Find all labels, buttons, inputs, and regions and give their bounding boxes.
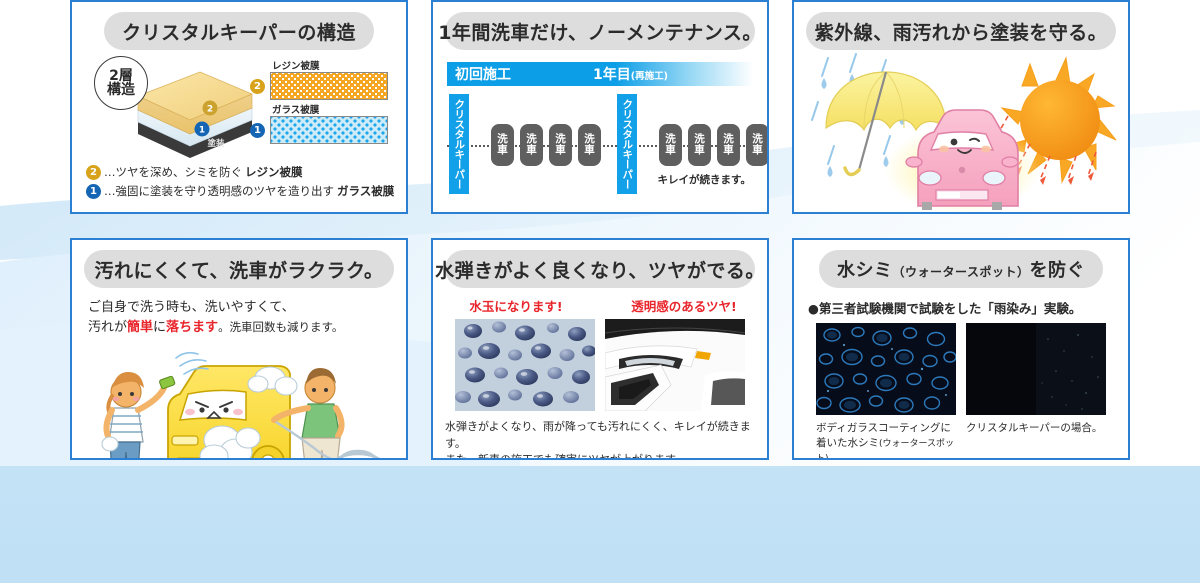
water-repel-captions: 水玉になります! 透明感のあるツヤ! (433, 296, 767, 315)
panel-easy-wash: 汚れにくくて、洗車がラクラク。 ご自身で洗う時も、洗いやすくて、 汚れが簡単に落… (70, 238, 408, 460)
swatch-number-2: 2 (250, 79, 265, 94)
feature-panel-grid: クリスタルキーパーの構造 2層 構造 (70, 0, 1130, 470)
panel-water-repel-title-pill: 水弾きがよく良くなり、ツヤがでる。 (445, 250, 755, 288)
panel-structure: クリスタルキーパーの構造 2層 構造 (70, 0, 408, 214)
caption-left-line-2: 着いた水シミ(ウォータースポット) (816, 436, 956, 460)
timeline-treatment-initial: クリスタルキーパー (449, 94, 469, 194)
timeline-treatment-year1: クリスタルキーパー (617, 94, 637, 194)
legend-bold-1: ガラス被膜 (337, 183, 394, 199)
timeline-phase-2-sub: (再施工) (631, 71, 668, 82)
swatch-glass-film (270, 116, 388, 144)
swatch-number-1: 1 (250, 123, 265, 138)
panel-structure-title-pill: クリスタルキーパーの構造 (104, 12, 374, 50)
clean-black-panel-photo (966, 323, 1106, 415)
water-spot-captions: ボディガラスコーティングに 着いた水シミ(ウォータースポット) クリスタルキーパ… (794, 421, 1128, 460)
coating-swatches: レジン被膜 2 ガラス被膜 1 (250, 58, 400, 146)
timeline-track: クリスタルキーパー 洗車 洗車 洗車 洗車 クリスタルキーパー 洗車 洗車 洗車… (447, 90, 753, 194)
car-icon (906, 110, 1018, 210)
water-spot-caption-right: クリスタルキーパーの場合。 (966, 421, 1106, 460)
svg-text:1: 1 (199, 126, 205, 136)
panel-water-repel-title: 水弾きがよく良くなり、ツヤがでる。 (435, 256, 765, 283)
highlight-ochimasu: 落ちます (166, 320, 218, 335)
timeline-wash-3: 洗車 (549, 124, 572, 166)
white-car-headlight-photo (605, 319, 745, 411)
easy-wash-illustration (72, 340, 406, 460)
clean-black-panel-render (966, 323, 1106, 415)
timeline-wash-1: 洗車 (491, 124, 514, 166)
panel-maintenance: 1年間洗車だけ、ノーメンテナンス。 初回施工 1年目(再施工) クリスタルキーパ… (431, 0, 769, 214)
water-spot-caption-left: ボディガラスコーティングに 着いた水シミ(ウォータースポット) (816, 421, 956, 460)
easy-wash-line-1: ご自身で洗う時も、洗いやすくて、 (88, 298, 390, 318)
timeline-wash-8: 洗車 (746, 124, 769, 166)
timeline-phase-1-label: 初回施工 (455, 64, 511, 84)
legend-bold-2: レジン被膜 (245, 164, 303, 180)
panel-maintenance-title: 1年間洗車だけ、ノーメンテナンス。 (438, 18, 762, 45)
water-spot-rings-photo (816, 323, 956, 415)
girl-icon (102, 372, 175, 460)
timeline-wash-7: 洗車 (717, 124, 740, 166)
highlight-kantan: 簡単 (127, 320, 153, 335)
legend-line-2: 2 …ツヤを深め、シミを防ぐ レジン被膜 (86, 164, 392, 180)
svg-text:2: 2 (207, 105, 213, 115)
caption-clear-gloss: 透明感のあるツヤ! (614, 296, 754, 315)
easy-wash-line-2: 汚れが簡単に落ちます。洗車回数も減ります。 (88, 318, 390, 338)
water-beads-photo (455, 319, 595, 411)
two-layer-badge: 2層 構造 (94, 56, 148, 110)
swatch-row-glass: 1 (250, 116, 400, 144)
legend-text-1: …強固に塗装を守り透明感のツヤを造り出す (104, 183, 334, 199)
panel-easy-wash-title-pill: 汚れにくくて、洗車がラクラク。 (84, 250, 394, 288)
panel-uv-rain-title: 紫外線、雨汚れから塗装を守る。 (815, 18, 1108, 45)
car-washing-scene (72, 340, 406, 460)
water-repel-footer-line-2: また、新車の施工でも確実にツヤが上がります。 (445, 452, 755, 460)
uv-rain-scene (794, 50, 1128, 212)
water-beads-render (455, 319, 595, 411)
panel-water-spot-title-pill: 水シミ（ウォータースポット）を防ぐ (819, 250, 1103, 288)
water-spot-bullet: ●第三者試験機関で試験をした「雨染み」実験。 (808, 298, 1114, 317)
panel-water-spot: 水シミ（ウォータースポット）を防ぐ ●第三者試験機関で試験をした「雨染み」実験。 (792, 238, 1130, 460)
timeline-wash-6: 洗車 (688, 124, 711, 166)
timeline-phase-bar: 初回施工 1年目(再施工) (447, 62, 753, 86)
timeline-phase-2-label: 1年目(再施工) (593, 64, 668, 84)
water-repel-footer: 水弾きがよくなり、雨が降っても汚れにくく、キレイが続きます。 また、新車の施工で… (445, 419, 755, 460)
uv-rain-illustration (794, 50, 1128, 212)
timeline-note: キレイが続きます。 (658, 172, 751, 187)
legend-number-2: 2 (86, 165, 101, 180)
layer-diagram: 2層 構造 (72, 56, 406, 156)
water-spot-photos (794, 323, 1128, 415)
timeline-wash-4: 洗車 (578, 124, 601, 166)
timeline-wash-5: 洗車 (659, 124, 682, 166)
caption-right-line-1: クリスタルキーパーの場合。 (966, 421, 1106, 436)
timeline-wash-2: 洗車 (520, 124, 543, 166)
two-layer-badge-line1: 2層 (109, 69, 133, 83)
panel-uv-rain-title-pill: 紫外線、雨汚れから塗装を守る。 (806, 12, 1116, 50)
easy-wash-body: ご自身で洗う時も、洗いやすくて、 汚れが簡単に落ちます。洗車回数も減ります。 (88, 298, 390, 338)
water-repel-footer-line-1: 水弾きがよくなり、雨が降っても汚れにくく、キレイが続きます。 (445, 419, 755, 452)
panel-maintenance-title-pill: 1年間洗車だけ、ノーメンテナンス。 (445, 12, 755, 50)
legend-number-1: 1 (86, 184, 101, 199)
legend-line-1: 1 …強固に塗装を守り透明感のツヤを造り出す ガラス被膜 (86, 183, 392, 199)
panel-easy-wash-title: 汚れにくくて、洗車がラクラク。 (94, 256, 383, 283)
white-car-render (605, 319, 745, 411)
swatch-label-glass: ガラス被膜 (272, 102, 400, 116)
caption-water-beads: 水玉になります! (446, 296, 586, 315)
panel-structure-title: クリスタルキーパーの構造 (122, 18, 356, 45)
two-layer-badge-line2: 構造 (107, 83, 135, 97)
legend-text-2: …ツヤを深め、シミを防ぐ (104, 164, 242, 180)
svg-text:塗装: 塗装 (207, 138, 225, 149)
water-repel-photos (433, 319, 767, 411)
caption-left-line-1: ボディガラスコーティングに (816, 421, 956, 436)
swatch-label-resin: レジン被膜 (272, 58, 400, 72)
swatch-resin-film (270, 72, 388, 100)
panel-water-repel: 水弾きがよく良くなり、ツヤがでる。 水玉になります! 透明感のあるツヤ! (431, 238, 769, 460)
swatch-row-resin: 2 (250, 72, 400, 100)
panel-water-spot-title: 水シミ（ウォータースポット）を防ぐ (837, 256, 1085, 282)
structure-legend: 2 …ツヤを深め、シミを防ぐ レジン被膜 1 …強固に塗装を守り透明感のツヤを造… (86, 164, 392, 199)
panel-water-spot-title-sub: （ウォータースポット） (893, 265, 1030, 279)
water-spot-rings-render (816, 323, 956, 415)
panel-uv-rain: 紫外線、雨汚れから塗装を守る。 (792, 0, 1130, 214)
